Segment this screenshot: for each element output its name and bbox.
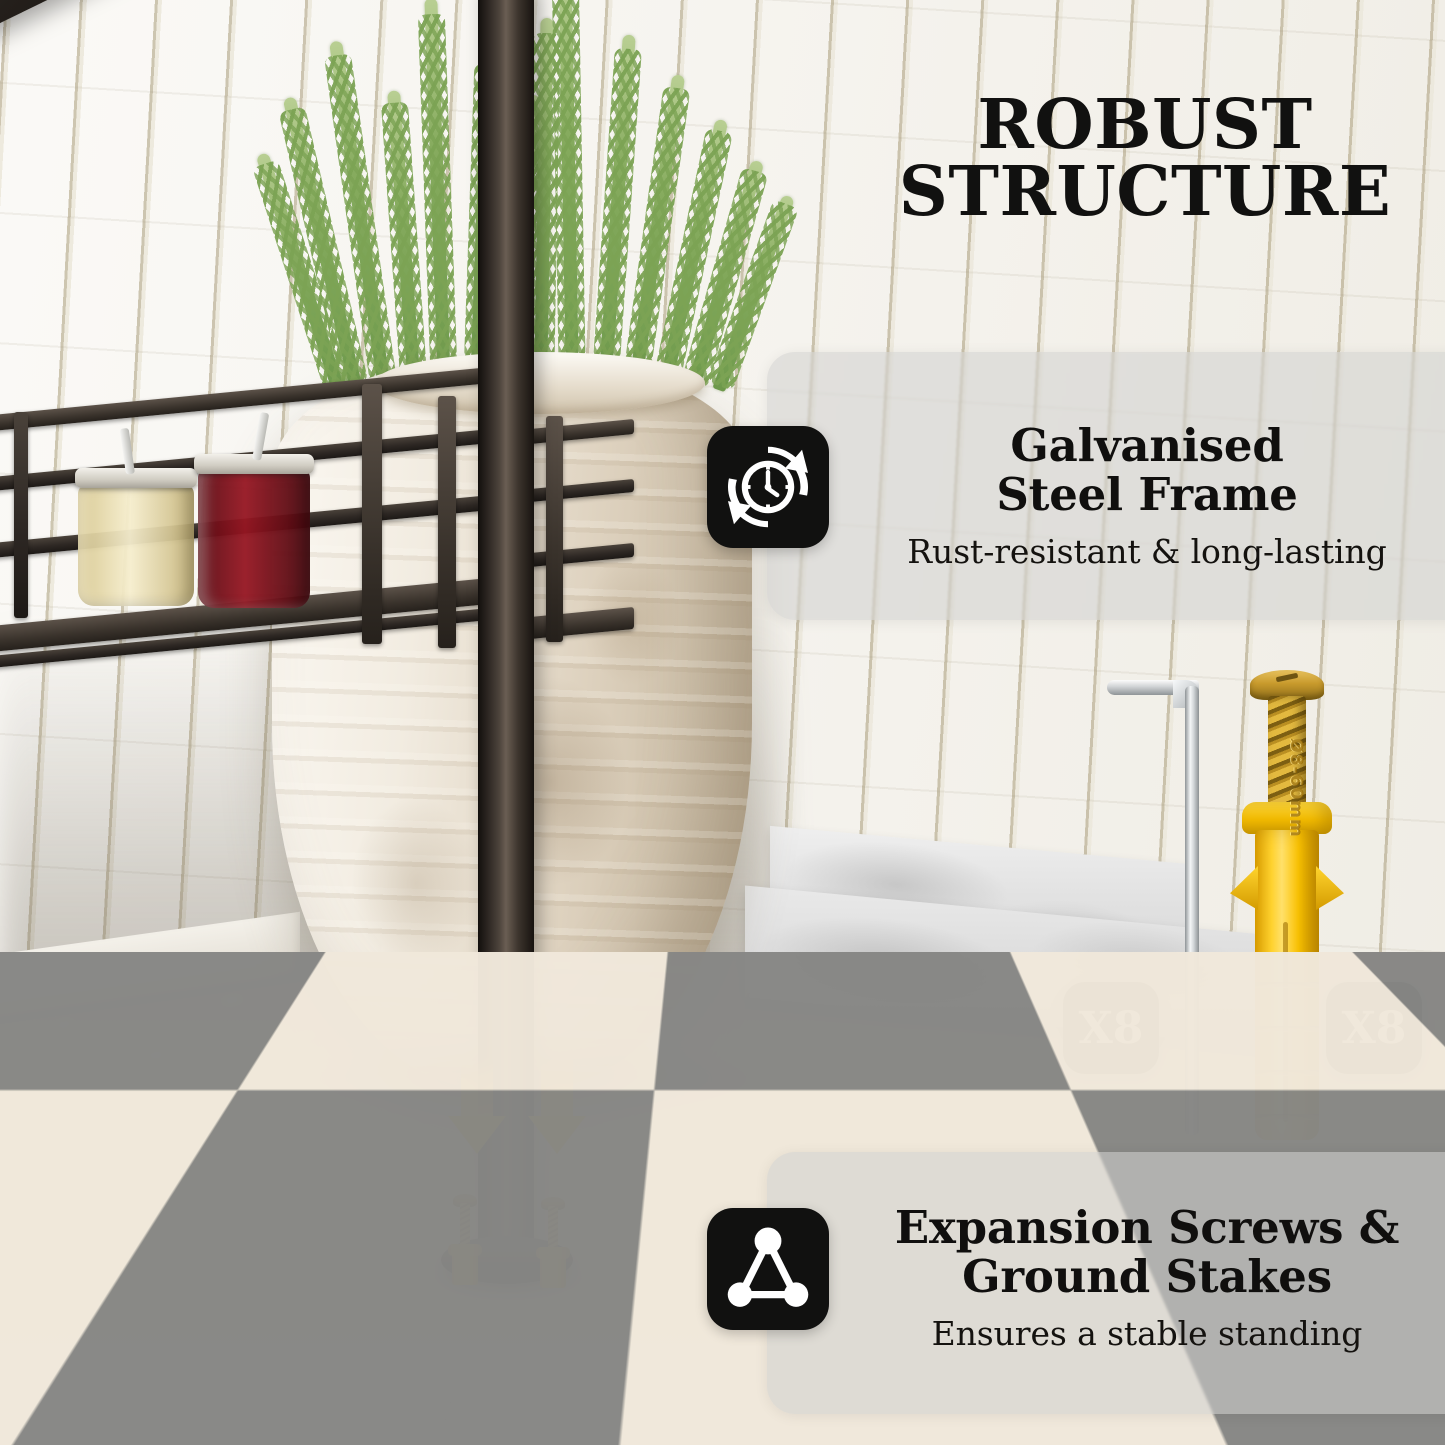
wall-plug-screw-icon: Ø8-60mm — [1238, 670, 1336, 1140]
feature-title: Expansion Screws & Ground Stakes — [857, 1204, 1437, 1301]
feature-title-line-1: Expansion Screws & — [895, 1201, 1399, 1254]
jar-amber-lid — [75, 468, 197, 488]
install-arrow-left — [448, 1058, 506, 1154]
page-title: ROBUST STRUCTURE — [845, 92, 1445, 225]
headline-line-2: STRUCTURE — [845, 159, 1445, 226]
jar-red — [198, 468, 310, 608]
product-feature-graphic: Ø8-60mm X8 X8 ROBUST STRUCTURE — [0, 0, 1445, 1445]
quantity-badge-hex-key: X8 — [1063, 982, 1159, 1074]
feature-title-line-2: Steel Frame — [996, 468, 1297, 521]
plug-spec-label: Ø8-60mm — [1286, 728, 1306, 848]
feature-title: Galvanised Steel Frame — [857, 422, 1437, 519]
ground-anchor-left — [452, 1165, 478, 1285]
metal-shelf-unit — [0, 372, 630, 672]
jar-amber — [78, 484, 194, 606]
feature-subtitle: Rust-resistant & long-lasting — [857, 532, 1437, 571]
install-arrow-right — [528, 1058, 586, 1154]
feature-title-line-2: Ground Stakes — [962, 1250, 1332, 1303]
clock-refresh-icon — [707, 426, 829, 548]
feature-text-block: Galvanised Steel Frame Rust-resistant & … — [857, 422, 1437, 571]
rosemary-plant — [320, 0, 750, 390]
plug-body — [1255, 830, 1319, 1140]
feature-text-block: Expansion Screws & Ground Stakes Ensures… — [857, 1204, 1437, 1353]
feature-title-line-1: Galvanised — [1010, 419, 1283, 472]
ground-anchor-right — [540, 1172, 566, 1288]
triangle-nodes-icon — [707, 1208, 829, 1330]
quantity-badge-expansion-screw: X8 — [1326, 982, 1422, 1074]
feature-subtitle: Ensures a stable standing — [857, 1314, 1437, 1353]
